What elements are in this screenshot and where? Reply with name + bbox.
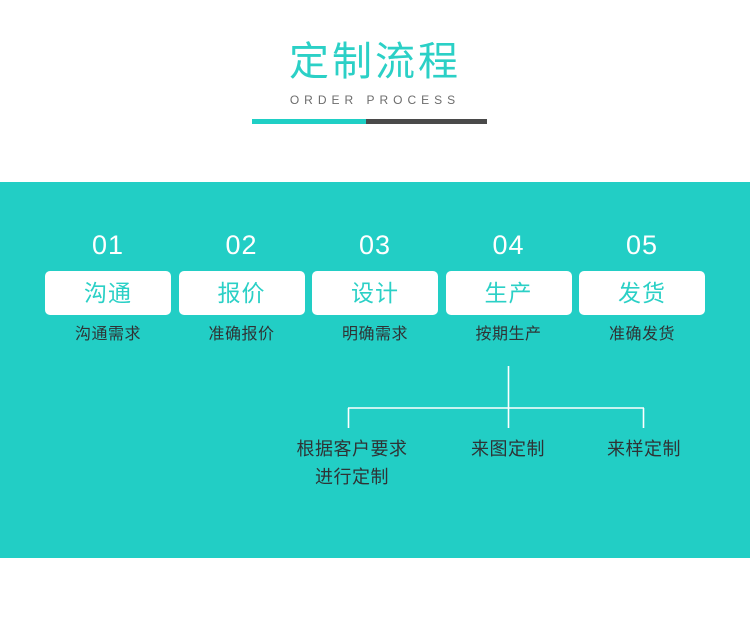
custom-option: 来样定制 [576, 435, 712, 463]
step-card[interactable]: 沟通 [45, 271, 171, 315]
page-subtitle: ORDER PROCESS [0, 92, 750, 108]
step-card[interactable]: 设计 [312, 271, 438, 315]
step-description: 准确发货 [609, 325, 675, 345]
step-description: 准确报价 [208, 325, 274, 345]
title-underline-bar [252, 119, 487, 124]
process-panel: 01 沟通 沟通需求 02 报价 准确报价 03 设计 明确需求 04 生产 按… [0, 182, 750, 558]
process-step[interactable]: 05 发货 准确发货 [579, 230, 705, 345]
step-card[interactable]: 发货 [579, 271, 705, 315]
page-header: 定制流程 ORDER PROCESS [0, 0, 750, 182]
process-step[interactable]: 04 生产 按期生产 [446, 230, 572, 345]
step-number: 03 [359, 230, 391, 260]
step-number: 05 [626, 230, 658, 260]
title-underline-accent [252, 119, 366, 124]
custom-option-line1: 来样定制 [576, 435, 712, 463]
step-card[interactable]: 报价 [179, 271, 305, 315]
step-description: 明确需求 [342, 325, 408, 345]
custom-option-line1: 根据客户要求 [262, 435, 442, 463]
step-card[interactable]: 生产 [446, 271, 572, 315]
custom-option: 来图定制 [440, 435, 576, 463]
process-step[interactable]: 02 报价 准确报价 [179, 230, 305, 345]
process-steps: 01 沟通 沟通需求 02 报价 准确报价 03 设计 明确需求 04 生产 按… [45, 230, 705, 345]
custom-option-line2: 进行定制 [262, 463, 442, 491]
custom-option-line1: 来图定制 [440, 435, 576, 463]
page-title: 定制流程 [0, 38, 750, 86]
process-step[interactable]: 01 沟通 沟通需求 [45, 230, 171, 345]
process-step[interactable]: 03 设计 明确需求 [312, 230, 438, 345]
custom-option: 根据客户要求 进行定制 [262, 435, 442, 491]
step-description: 按期生产 [475, 325, 541, 345]
step-number: 02 [225, 230, 257, 260]
step-number: 04 [492, 230, 524, 260]
step-description: 沟通需求 [75, 325, 141, 345]
step-number: 01 [92, 230, 124, 260]
